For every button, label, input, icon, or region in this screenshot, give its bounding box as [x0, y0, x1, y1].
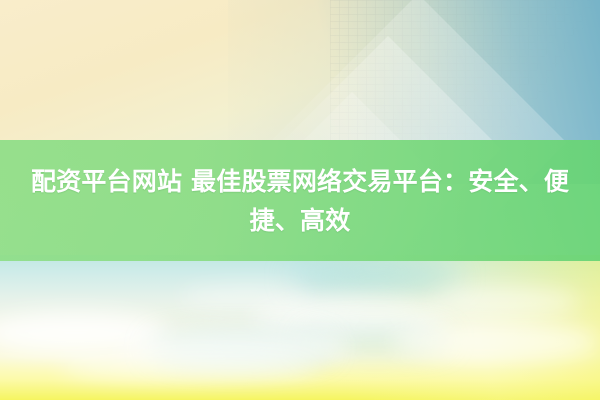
- promo-banner: 配资平台网站 最佳股票网络交易平台：安全、便捷、高效: [0, 0, 600, 400]
- banner-title: 配资平台网站 最佳股票网络交易平台：安全、便捷、高效: [12, 162, 588, 240]
- cloud-shape-6: [430, 288, 580, 316]
- title-band: 配资平台网站 最佳股票网络交易平台：安全、便捷、高效: [0, 140, 600, 261]
- cloud-shape-5: [60, 352, 320, 382]
- cloud-shape-blue-3: [290, 262, 460, 292]
- cloud-shape-4: [390, 322, 600, 362]
